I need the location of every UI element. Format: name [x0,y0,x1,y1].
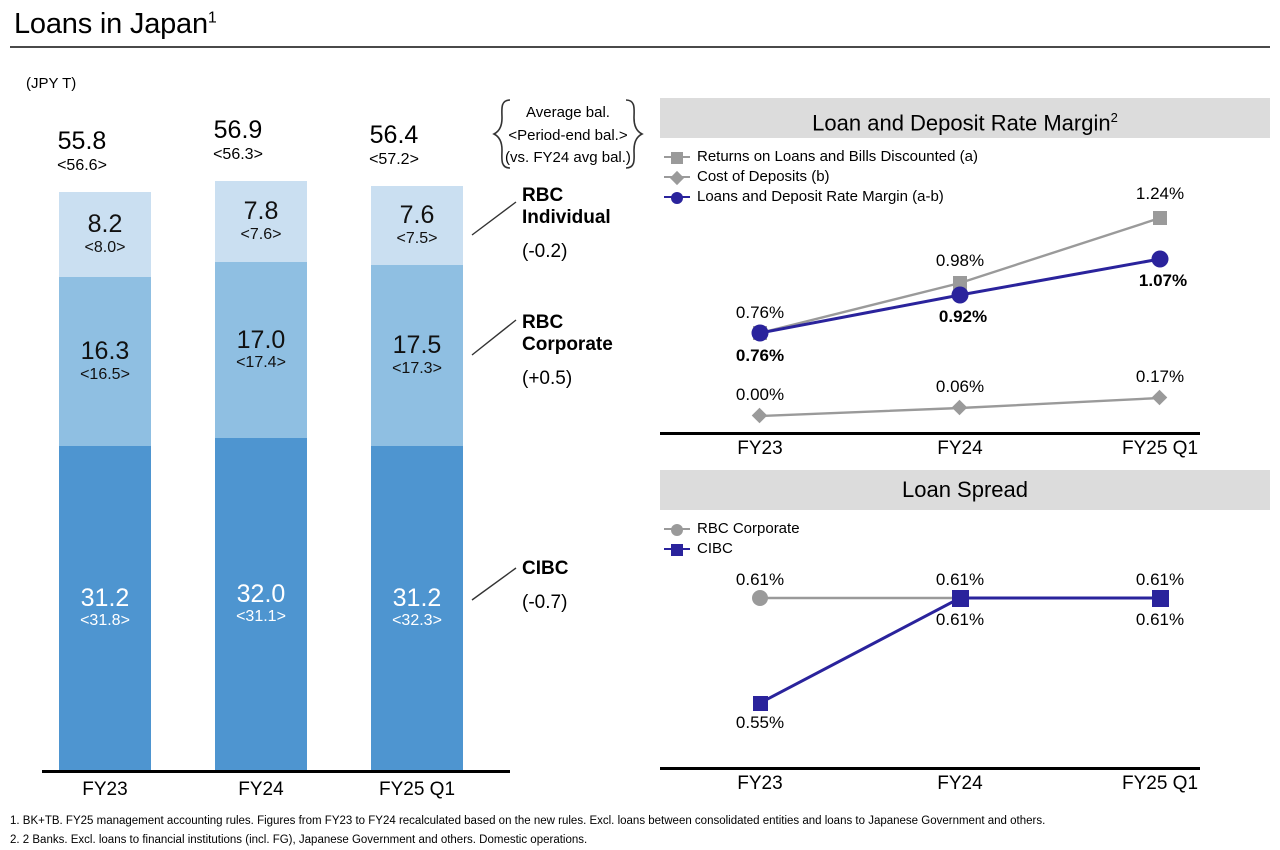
circle-marker-icon [752,590,768,606]
segment-value-period-end: <17.3> [392,359,442,379]
data-label-cibc-fy23: 0.55% [715,713,805,733]
bar-total-fy24: 56.9 <56.3> [168,117,308,165]
circle-marker-icon [952,287,969,304]
margin-x-tick-fy25q1: FY25 Q1 [1100,438,1220,460]
callout-delta: (-0.7) [522,592,652,614]
bar-segment-rbc-individual[interactable]: 7.8 <7.6> [215,181,307,262]
spread-x-tick-fy25q1: FY25 Q1 [1100,773,1220,795]
bar-segment-rbc-individual[interactable]: 8.2 <8.0> [59,192,151,277]
bar-chart-axis [42,770,510,773]
segment-value-period-end: <16.5> [80,365,130,385]
segment-value-period-end: <17.4> [236,353,286,373]
data-label-cibc-fy24: 0.61% [915,610,1005,630]
bar-total-fy25q1: 56.4 <57.2> [324,122,464,170]
bar-segment-rbc-individual[interactable]: 7.6 <7.5> [371,186,463,265]
margin-x-tick-fy24: FY24 [900,438,1020,460]
segment-value-period-end: <32.3> [392,611,442,631]
segment-value-avg: 8.2 [88,211,123,237]
data-label-cost-fy23: 0.00% [715,385,805,405]
callout-name-line2: Corporate [522,334,652,356]
callout-name-line2: Individual [522,207,652,229]
data-label-margin-fy24: 0.92% [918,307,1008,327]
loan-and-deposit-rate-margin-chart: Loan and Deposit Rate Margin2 Returns on… [660,98,1270,458]
segment-value-period-end: <7.6> [241,225,282,245]
callout-rbc-corporate: RBC Corporate (+0.5) [522,312,652,390]
bar-total-avg: 55.8 [12,128,152,156]
callout-rbc-individual: RBC Individual (-0.2) [522,185,652,263]
footnotes: 1. BK+TB. FY25 management accounting rul… [10,812,1274,850]
data-label-margin-fy25q1: 1.07% [1118,271,1208,291]
data-label-returns-fy25q1: 1.24% [1115,184,1205,204]
bar-x-tick-fy23: FY23 [35,779,175,801]
loan-spread-chart: Loan Spread RBC Corporate CIBC 0.61% 0.6… [660,470,1270,800]
data-label-margin-fy23: 0.76% [715,346,805,366]
data-label-returns-fy23: 0.76% [715,303,805,323]
data-label-rbc-corporate-fy23: 0.61% [715,570,805,590]
segment-value-avg: 31.2 [81,585,130,611]
bar-segment-cibc[interactable]: 32.0 <31.1> [215,438,307,770]
callout-name-line1: RBC [522,185,652,207]
callout-delta: (+0.5) [522,368,652,390]
margin-x-tick-fy23: FY23 [700,438,820,460]
bar-total-avg: 56.4 [324,122,464,150]
segment-value-period-end: <31.1> [236,607,286,627]
bar-segment-cibc[interactable]: 31.2 <31.8> [59,446,151,770]
bar-column-fy24[interactable]: 7.8 <7.6> 17.0 <17.4> 32.0 <31.1> [215,181,307,770]
square-marker-icon [952,590,969,607]
bar-x-tick-fy25q1: FY25 Q1 [347,779,487,801]
data-label-cibc-fy25q1: 0.61% [1115,610,1205,630]
segment-value-period-end: <8.0> [85,238,126,258]
bar-column-fy25q1[interactable]: 7.6 <7.5> 17.5 <17.3> 31.2 <32.3> [371,186,463,770]
segment-value-avg: 17.5 [393,332,442,358]
callout-name-line1: CIBC [522,558,652,580]
segment-value-avg: 7.8 [244,198,279,224]
diamond-marker-icon [952,400,968,416]
loan-spread-axis [660,767,1200,770]
segment-value-avg: 17.0 [237,327,286,353]
bar-total-period-end: <57.2> [324,150,464,171]
bracket-note-text: Average bal. <Period-end bal.> (vs. FY24… [502,102,634,170]
bracket-line-3: (vs. FY24 avg bal.) [502,147,634,170]
data-label-cost-fy25q1: 0.17% [1115,367,1205,387]
bracket-note: Average bal. <Period-end bal.> (vs. FY24… [492,98,644,170]
data-label-rbc-corporate-fy24: 0.61% [915,570,1005,590]
callout-name-line1: RBC [522,312,652,334]
square-marker-icon [1152,590,1169,607]
data-label-cost-fy24: 0.06% [915,377,1005,397]
bar-x-tick-fy24: FY24 [191,779,331,801]
circle-marker-icon [752,325,769,342]
footnote-2: 2. 2 Banks. Excl. loans to financial ins… [10,831,1274,850]
callout-delta: (-0.2) [522,241,652,263]
circle-marker-icon [1152,251,1169,268]
data-label-rbc-corporate-fy25q1: 0.61% [1115,570,1205,590]
footnote-1: 1. BK+TB. FY25 management accounting rul… [10,812,1274,831]
margin-chart-axis [660,432,1200,435]
bracket-line-2: <Period-end bal.> [502,125,634,148]
segment-value-period-end: <7.5> [397,229,438,249]
segment-value-avg: 16.3 [81,338,130,364]
segment-value-avg: 31.2 [393,585,442,611]
loans-stacked-bar-chart: 55.8 <56.6> 8.2 <8.0> 16.3 <16.5> 31.2 <… [0,0,650,800]
bar-total-period-end: <56.3> [168,145,308,166]
callout-cibc: CIBC (-0.7) [522,558,652,614]
spread-x-tick-fy23: FY23 [700,773,820,795]
diamond-marker-icon [1152,390,1168,406]
segment-value-avg: 32.0 [237,581,286,607]
spread-x-tick-fy24: FY24 [900,773,1020,795]
bar-column-fy23[interactable]: 8.2 <8.0> 16.3 <16.5> 31.2 <31.8> [59,192,151,770]
bracket-line-1: Average bal. [502,102,634,125]
bar-total-fy23: 55.8 <56.6> [12,128,152,176]
bar-segment-rbc-corporate[interactable]: 17.5 <17.3> [371,265,463,446]
bar-segment-rbc-corporate[interactable]: 17.0 <17.4> [215,262,307,438]
square-marker-icon [1153,211,1167,225]
segment-value-period-end: <31.8> [80,611,130,631]
square-marker-icon [753,696,768,711]
bar-segment-cibc[interactable]: 31.2 <32.3> [371,446,463,770]
bar-segment-rbc-corporate[interactable]: 16.3 <16.5> [59,277,151,446]
bar-total-avg: 56.9 [168,117,308,145]
bar-total-period-end: <56.6> [12,156,152,177]
segment-value-avg: 7.6 [400,202,435,228]
data-label-returns-fy24: 0.98% [915,251,1005,271]
diamond-marker-icon [752,408,768,424]
